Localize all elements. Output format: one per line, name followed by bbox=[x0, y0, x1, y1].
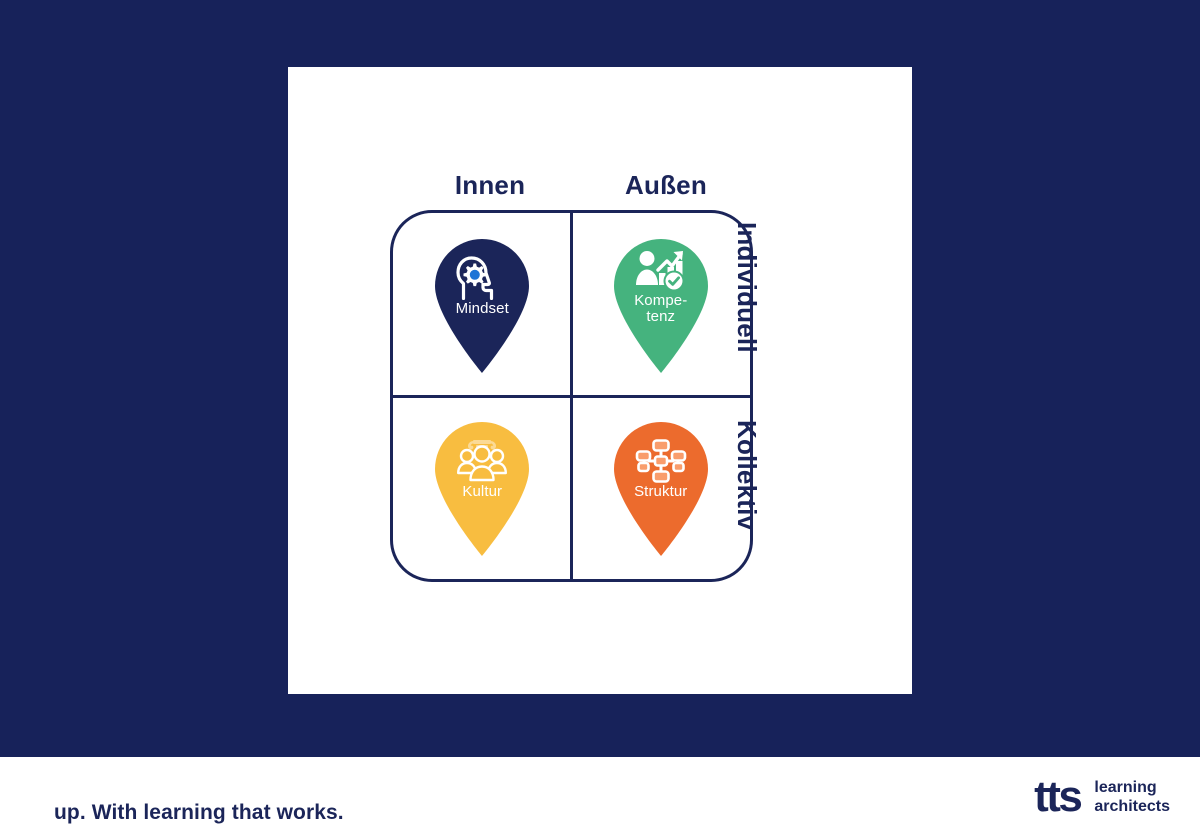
people-group-column-icon bbox=[456, 439, 508, 483]
tts-logo: tts learning architects bbox=[1034, 775, 1170, 819]
quadrant-cell-kompetenz[interactable]: Kompe- tenz bbox=[572, 213, 751, 396]
growth-chart-person-icon bbox=[635, 248, 687, 292]
tts-logo-line-1: learning bbox=[1094, 778, 1170, 797]
footer-bar: up. With learning that works. tts learni… bbox=[0, 757, 1200, 840]
head-gear-icon bbox=[456, 256, 508, 300]
tts-logo-line-2: architects bbox=[1094, 797, 1170, 816]
pin-label-line: Kultur bbox=[462, 484, 502, 500]
quadrant-cell-struktur[interactable]: Struktur bbox=[572, 396, 751, 579]
slide-background: Innen Außen Individuell Kollektiv bbox=[0, 0, 1200, 757]
pin-label-struktur: Struktur bbox=[634, 484, 687, 500]
pin-marker-kultur[interactable]: Kultur bbox=[427, 414, 537, 556]
pin-marker-struktur[interactable]: Struktur bbox=[606, 414, 716, 556]
quadrant-cell-kultur[interactable]: Kultur bbox=[393, 396, 572, 579]
footer-tagline: up. With learning that works. bbox=[54, 801, 344, 825]
pin-label-kompetenz: Kompe- tenz bbox=[634, 293, 687, 325]
pin-label-line: Mindset bbox=[456, 301, 509, 317]
pin-content-kultur: Kultur bbox=[427, 414, 537, 526]
pin-label-line: Kompe- bbox=[634, 293, 687, 309]
org-chart-network-icon bbox=[635, 439, 687, 483]
pin-marker-mindset[interactable]: Mindset bbox=[427, 231, 537, 373]
pin-content-mindset: Mindset bbox=[427, 231, 537, 343]
pin-content-struktur: Struktur bbox=[606, 414, 716, 526]
quadrant-matrix: Mindset bbox=[390, 210, 753, 582]
tts-logo-mark: tts bbox=[1034, 775, 1080, 819]
column-header-aussen: Außen bbox=[566, 170, 766, 201]
pin-label-line: Struktur bbox=[634, 484, 687, 500]
quadrant-cell-mindset[interactable]: Mindset bbox=[393, 213, 572, 396]
pin-marker-kompetenz[interactable]: Kompe- tenz bbox=[606, 231, 716, 373]
pin-label-mindset: Mindset bbox=[456, 301, 509, 317]
pin-label-kultur: Kultur bbox=[462, 484, 502, 500]
column-header-innen: Innen bbox=[390, 170, 590, 201]
tts-logo-words: learning architects bbox=[1094, 778, 1170, 816]
pin-label-line: tenz bbox=[634, 309, 687, 325]
pin-content-kompetenz: Kompe- tenz bbox=[606, 231, 716, 343]
